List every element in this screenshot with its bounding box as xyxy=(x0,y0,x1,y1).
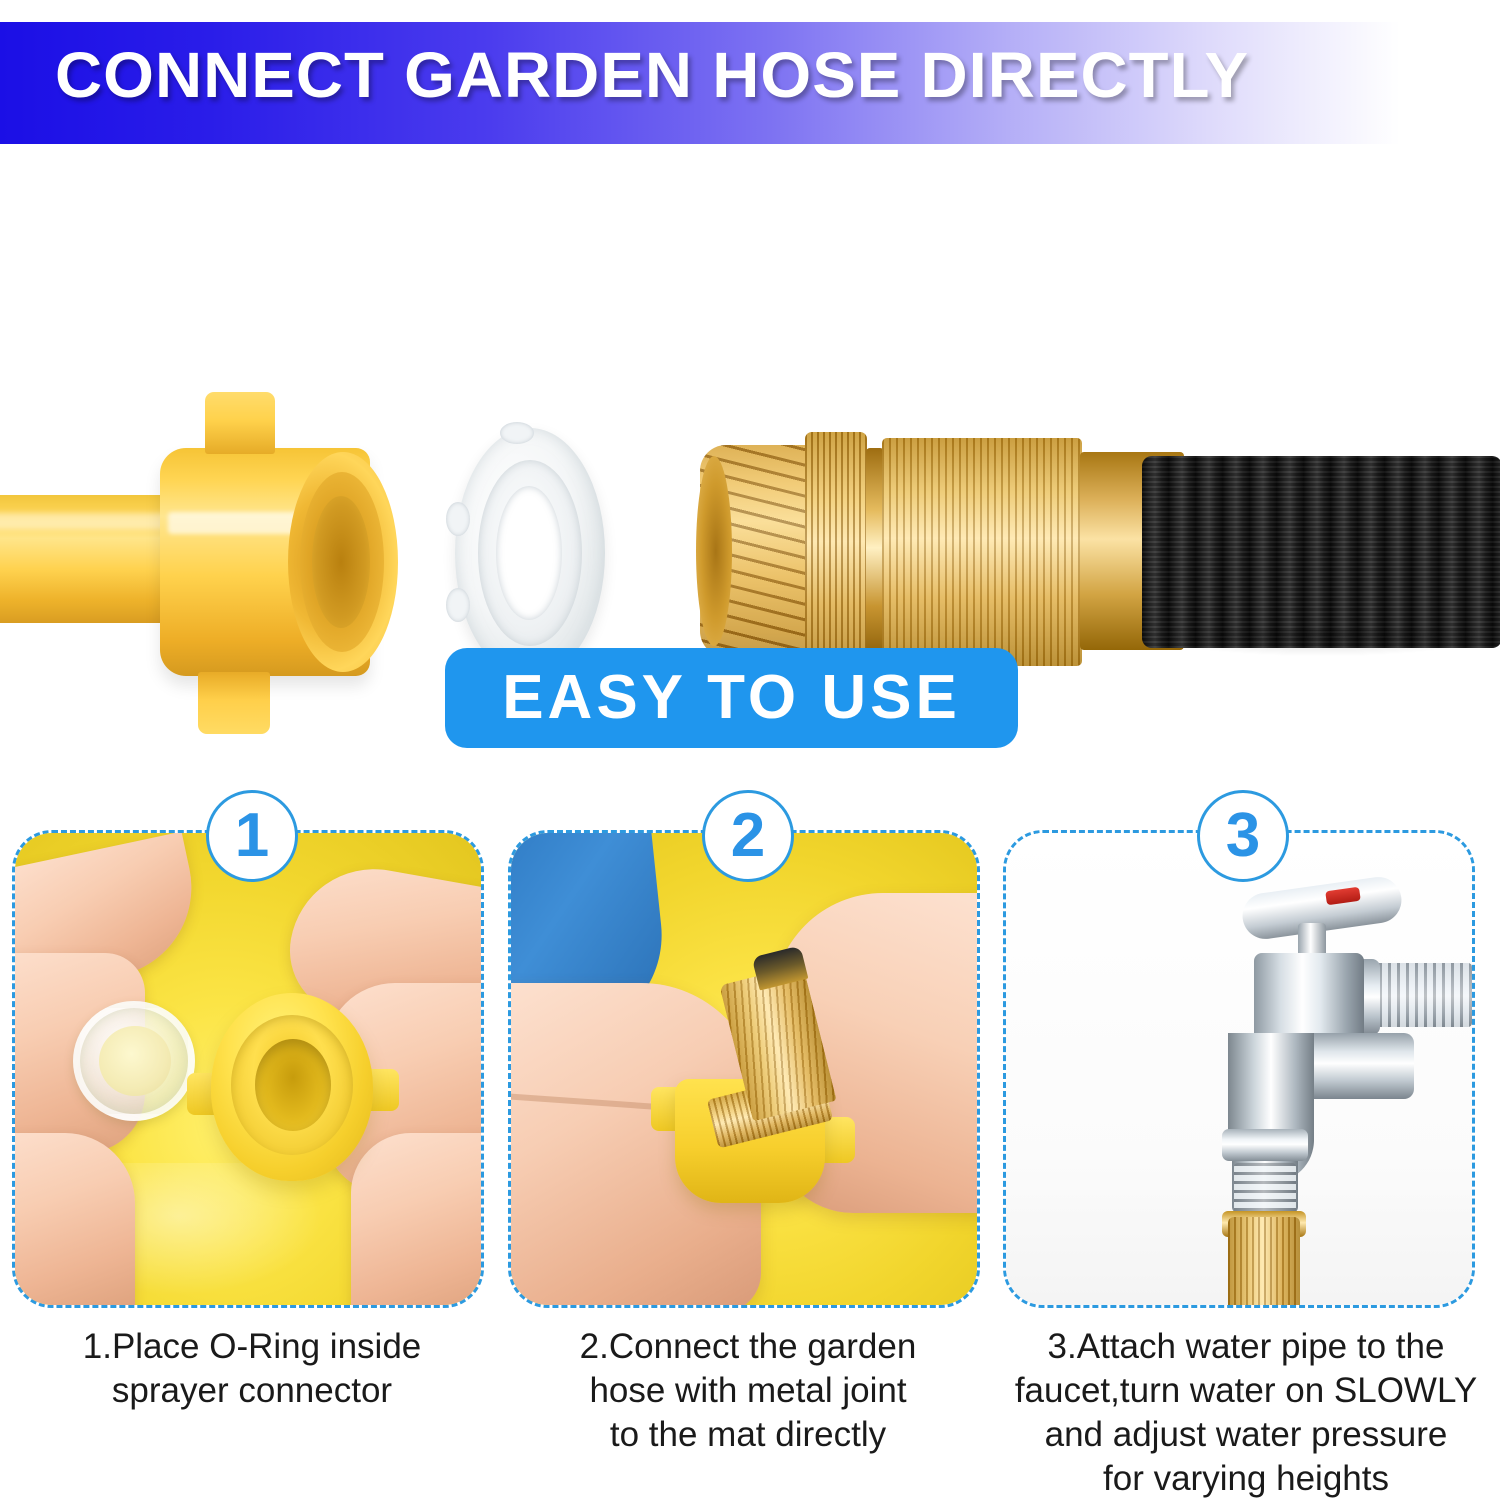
left-hand-finger-icon xyxy=(12,1133,135,1308)
o-ring-hole xyxy=(99,1026,171,1096)
step-3-photo xyxy=(1003,830,1475,1308)
step-2-caption: 2.Connect the garden hose with metal joi… xyxy=(508,1325,988,1457)
yellow-nut-wing-bottom-icon xyxy=(198,672,270,734)
step-1-number-badge: 1 xyxy=(206,790,298,882)
easy-to-use-badge: EASY TO USE xyxy=(445,648,1018,748)
o-ring-tab-left-upper xyxy=(446,502,470,536)
hose-drop-shadow xyxy=(1145,630,1500,656)
o-ring-tab-top xyxy=(500,422,534,444)
step-2-photo xyxy=(508,830,980,1308)
connector-bore xyxy=(255,1039,331,1131)
o-ring-hole xyxy=(496,486,562,620)
brass-connector-icon xyxy=(1228,1217,1300,1308)
step-3-caption: 3.Attach water pipe to the faucet,turn w… xyxy=(1000,1325,1492,1501)
hero-product-photo xyxy=(0,160,1500,620)
right-hand-finger-icon xyxy=(351,1133,484,1308)
yellow-nut-wing-top-icon xyxy=(205,392,275,454)
step-2-number: 2 xyxy=(731,805,765,867)
brass-ribbed-barrel-icon xyxy=(882,438,1082,666)
step-1-caption: 1.Place O-Ring inside sprayer connector xyxy=(12,1325,492,1413)
easy-to-use-label: EASY TO USE xyxy=(502,667,961,729)
step-1-number: 1 xyxy=(235,805,269,867)
black-expandable-hose-icon xyxy=(1142,456,1500,648)
yellow-nut-bore-icon xyxy=(312,496,370,628)
faucet-outlet-collar-icon xyxy=(1222,1129,1308,1161)
step-3-number: 3 xyxy=(1226,805,1260,867)
step-1-photo xyxy=(12,830,484,1308)
step-2-number-badge: 2 xyxy=(702,790,794,882)
brass-knurled-collar-icon xyxy=(805,432,867,670)
brass-thread-face xyxy=(696,456,732,646)
page-title: CONNECT GARDEN HOSE DIRECTLY xyxy=(55,38,1249,112)
step-3-number-badge: 3 xyxy=(1197,790,1289,882)
yellow-hose-tube-icon xyxy=(0,495,170,623)
o-ring-tab-left-lower xyxy=(446,588,470,622)
